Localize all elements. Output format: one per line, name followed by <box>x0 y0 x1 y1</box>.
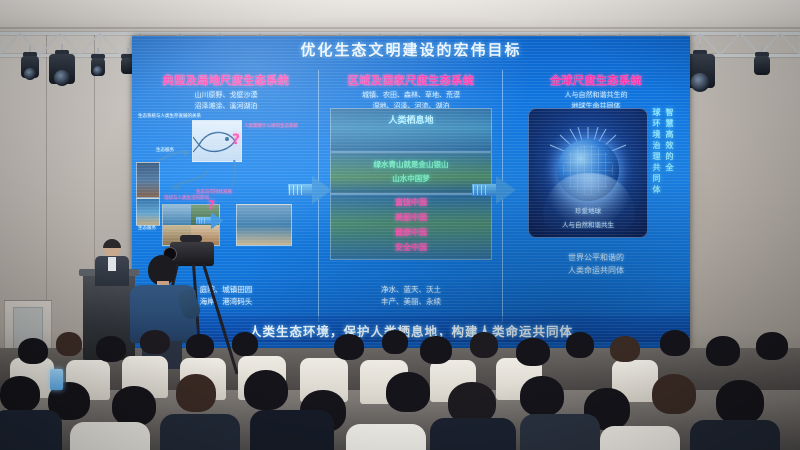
overlay-text: 绿水青山就是金山银山 <box>331 159 491 170</box>
audience-head <box>706 336 740 366</box>
presenter <box>95 240 129 284</box>
slide-title: 优化生态文明建设的宏伟目标 <box>132 39 690 60</box>
overlay-text: 美丽中国 <box>331 212 491 223</box>
conference-photo: 优化生态文明建设的宏伟目标 典型及局地尺度生态系统 山川原野、戈壁沙漠 沼泽滩涂… <box>0 0 800 450</box>
audience-head <box>232 332 258 356</box>
column-heading: 典型及局地尺度生态系统 <box>136 72 316 88</box>
audience-head <box>610 336 640 362</box>
audience-head <box>176 374 216 412</box>
habitat-photo-band: 人类栖息地 <box>330 108 492 152</box>
diagram-label: 现状与人类生活的影响 <box>164 196 209 202</box>
diagram-label: 生态服务 <box>138 226 156 232</box>
audience-head <box>520 376 564 416</box>
audience-shoulders <box>520 414 600 450</box>
audience-shoulders <box>0 410 62 450</box>
green-mountains-photo-band: 绿水青山就是金山银山 山水中国梦 <box>330 152 492 194</box>
audience-head <box>334 334 364 360</box>
audience-shoulders <box>70 422 150 450</box>
column-heading: 全球尺度生态系统 <box>506 72 686 88</box>
diagram-label: 生态与可持续发展 <box>196 190 232 196</box>
question-mark-icon: ? <box>208 198 215 212</box>
column-footer: 净水、蓝天、沃土 丰产、美丽、永续 <box>322 284 500 308</box>
audience-head <box>18 338 48 364</box>
overlay-text: 人类栖息地 <box>331 113 491 126</box>
overlay-text: 健康中国 <box>331 227 491 238</box>
audience-shoulders <box>690 420 780 450</box>
diagram-sea-photo <box>136 198 160 226</box>
ceiling-seam <box>0 27 800 29</box>
vertical-side-text: 智慧高效的全 球环境治理共同体 <box>644 108 682 238</box>
audience-area <box>0 330 800 450</box>
audience-shoulders <box>250 410 334 450</box>
vertical-text-col1: 智慧高效的全 <box>664 108 675 238</box>
audience-head <box>96 336 126 362</box>
diagram-coast-photo <box>236 204 292 246</box>
audience-head <box>756 332 788 360</box>
audience-head <box>420 336 452 364</box>
audience-shoulders <box>430 418 516 450</box>
audience-head <box>186 334 214 358</box>
column-heading: 区域及国家尺度生态系统 <box>322 72 500 88</box>
audience-head <box>382 330 408 354</box>
overlay-text: 安全中国 <box>331 242 491 253</box>
audience-head <box>112 386 156 426</box>
audience-shoulders <box>600 426 680 450</box>
column-subtitle: 山川原野、戈壁沙漠 沼泽滩涂、溪河湖泊 <box>136 90 316 111</box>
audience-head <box>0 376 40 412</box>
audience-head <box>652 374 696 414</box>
audience-head <box>470 332 498 358</box>
column-global-scale: 全球尺度生态系统 人与自然和谐共生的 地球生命共同体 珍爱地球 人与自然和谐共生… <box>506 72 686 312</box>
audience-shoulders <box>160 414 240 450</box>
overlay-text: 山水中国梦 <box>331 173 491 184</box>
overlay-text: 富饶中国 <box>331 197 491 208</box>
audience-head <box>140 330 170 354</box>
audience-head <box>516 338 550 366</box>
vertical-text-col2: 球环境治理共同体 <box>651 108 662 238</box>
image-caption-line1: 珍爱地球 <box>529 205 647 215</box>
audience-head <box>244 370 288 410</box>
image-caption-line2: 人与自然和谐共生 <box>529 219 647 229</box>
audience-head <box>386 372 430 412</box>
audience-phone-screen <box>50 369 63 390</box>
audience-head <box>660 330 690 356</box>
diagram-inner-arrow <box>196 212 223 229</box>
audience-head <box>56 332 82 356</box>
audience-shoulders <box>346 424 426 450</box>
audience-head <box>566 332 594 358</box>
china-goals-photo-band: 富饶中国 美丽中国 健康中国 安全中国 <box>330 194 492 260</box>
column-footer: 世界公平和谐的 人类命运共同体 <box>506 251 686 278</box>
audience-head <box>716 380 764 424</box>
earth-in-hands-image: 珍爱地球 人与自然和谐共生 <box>528 108 648 238</box>
arrow-col1-to-col2 <box>288 176 332 204</box>
diagram-city-photo <box>136 162 160 198</box>
arrow-col2-to-col3 <box>472 176 516 204</box>
